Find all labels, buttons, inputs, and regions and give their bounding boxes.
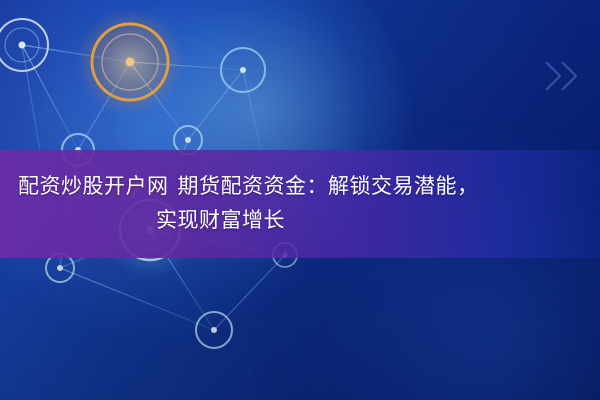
headline-text: 配资炒股开户网期货配资资金：解锁交易潜能， 实现财富增长: [18, 170, 582, 238]
headline-line-2: 实现财富增长: [18, 204, 285, 238]
image-canvas: 配资炒股开户网期货配资资金：解锁交易潜能， 实现财富增长: [0, 0, 600, 400]
headline-line-1: 期货配资资金：解锁交易潜能，: [178, 175, 479, 198]
chevron-decoration: [540, 56, 586, 101]
headline-banner-content: 配资炒股开户网期货配资资金：解锁交易潜能， 实现财富增长: [0, 150, 600, 258]
site-name: 配资炒股开户网: [18, 175, 169, 198]
